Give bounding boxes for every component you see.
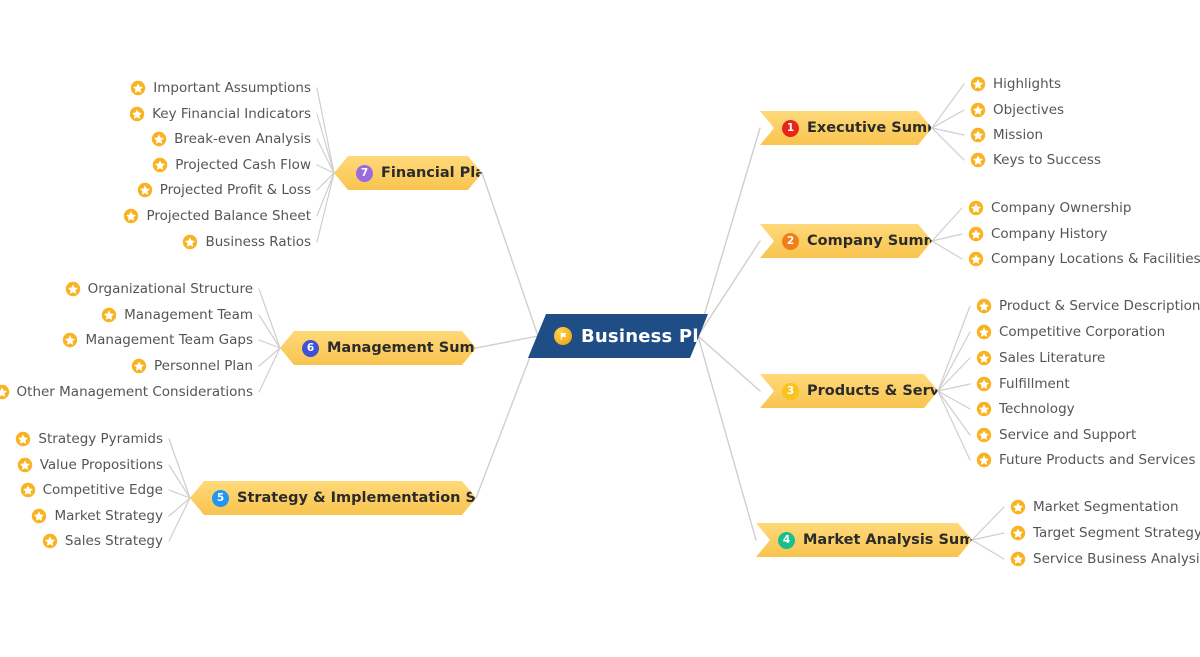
flag-icon [554, 327, 572, 345]
center-node-business-plan[interactable]: Business Plan [528, 314, 708, 358]
star-icon [976, 350, 992, 366]
leaf-node[interactable]: Keys to Success [970, 151, 1101, 169]
branch-number-badge: 5 [212, 490, 229, 507]
leaf-node-label: Market Segmentation [1033, 499, 1179, 515]
branch-node-label: Company Summary [807, 233, 965, 249]
branch-node-market-analysis-summary[interactable]: 4Market Analysis Summary [756, 523, 972, 557]
leaf-node-label: Service Business Analysis [1033, 551, 1200, 567]
star-icon [976, 452, 992, 468]
leaf-node-label: Company Ownership [991, 200, 1132, 216]
leaf-node[interactable]: Break-even Analysis [151, 130, 311, 148]
leaf-node[interactable]: Organizational Structure [65, 280, 253, 298]
leaf-node[interactable]: Value Propositions [17, 456, 163, 474]
leaf-node-label: Mission [993, 127, 1043, 143]
leaf-node-label: Keys to Success [993, 152, 1101, 168]
star-icon [42, 533, 58, 549]
leaf-node-label: Value Propositions [40, 457, 163, 473]
branch-node-management-summary[interactable]: 6Management Summary [280, 331, 476, 365]
star-icon [129, 106, 145, 122]
leaf-node-label: Key Financial Indicators [152, 106, 311, 122]
star-icon [968, 251, 984, 267]
star-icon [101, 307, 117, 323]
leaf-node-label: Objectives [993, 102, 1064, 118]
star-icon [137, 182, 153, 198]
mindmap-canvas: Business Plan1Executive SummaryHighlight… [0, 0, 1200, 657]
branch-number-badge: 2 [782, 233, 799, 250]
leaf-node-label: Personnel Plan [154, 358, 253, 374]
star-icon [976, 427, 992, 443]
leaf-node-label: Competitive Corporation [999, 324, 1165, 340]
star-icon [968, 226, 984, 242]
star-icon [970, 127, 986, 143]
leaf-node-label: Projected Balance Sheet [146, 208, 311, 224]
branch-node-label: Strategy & Implementation Summary [237, 490, 543, 506]
branch-number-badge: 1 [782, 120, 799, 137]
leaf-node[interactable]: Strategy Pyramids [15, 430, 163, 448]
star-icon [15, 431, 31, 447]
leaf-node-label: Important Assumptions [153, 80, 311, 96]
leaf-node-label: Highlights [993, 76, 1061, 92]
star-icon [152, 157, 168, 173]
leaf-node[interactable]: Target Segment Strategy [1010, 524, 1200, 542]
leaf-node-label: Product & Service Description [999, 298, 1200, 314]
center-node-label: Business Plan [581, 326, 724, 347]
leaf-node[interactable]: Business Ratios [182, 233, 311, 251]
leaf-node[interactable]: Sales Literature [976, 349, 1105, 367]
leaf-node[interactable]: Fulfillment [976, 375, 1070, 393]
star-icon [976, 376, 992, 392]
star-icon [976, 324, 992, 340]
leaf-node-label: Organizational Structure [88, 281, 253, 297]
star-icon [970, 76, 986, 92]
leaf-node[interactable]: Personnel Plan [131, 357, 253, 375]
star-icon [123, 208, 139, 224]
leaf-node[interactable]: Management Team [101, 306, 253, 324]
leaf-node[interactable]: Important Assumptions [130, 79, 311, 97]
star-icon [131, 358, 147, 374]
star-icon [182, 234, 198, 250]
branch-node-company-summary[interactable]: 2Company Summary [760, 224, 932, 258]
leaf-node[interactable]: Highlights [970, 75, 1061, 93]
leaf-node[interactable]: Service and Support [976, 426, 1136, 444]
leaf-node[interactable]: Other Management Considerations [0, 383, 253, 401]
leaf-node[interactable]: Company Locations & Facilities [968, 250, 1200, 268]
leaf-node[interactable]: Company Ownership [968, 199, 1132, 217]
star-icon [1010, 551, 1026, 567]
branch-node-products-services[interactable]: 3Products & Services [760, 374, 938, 408]
leaf-node-label: Market Strategy [54, 508, 163, 524]
branch-node-strategy-implementation-summary[interactable]: 5Strategy & Implementation Summary [190, 481, 476, 515]
star-icon [976, 401, 992, 417]
branch-node-financial-plan[interactable]: 7Financial Plan [334, 156, 482, 190]
leaf-node-label: Company Locations & Facilities [991, 251, 1200, 267]
leaf-node-label: Break-even Analysis [174, 131, 311, 147]
leaf-node[interactable]: Competitive Edge [20, 481, 163, 499]
leaf-node-label: Projected Profit & Loss [160, 182, 311, 198]
leaf-node-label: Business Ratios [205, 234, 311, 250]
leaf-node-label: Sales Strategy [65, 533, 163, 549]
leaf-node[interactable]: Service Business Analysis [1010, 550, 1200, 568]
leaf-node[interactable]: Competitive Corporation [976, 323, 1165, 341]
leaf-node-label: Management Team [124, 307, 253, 323]
branch-node-label: Executive Summary [807, 120, 969, 136]
star-icon [130, 80, 146, 96]
leaf-node[interactable]: Projected Cash Flow [152, 156, 311, 174]
branch-number-badge: 7 [356, 165, 373, 182]
branch-node-label: Financial Plan [381, 165, 495, 181]
branch-number-badge: 3 [782, 383, 799, 400]
leaf-node[interactable]: Projected Balance Sheet [123, 207, 311, 225]
star-icon [968, 200, 984, 216]
leaf-node[interactable]: Objectives [970, 101, 1064, 119]
leaf-node-label: Sales Literature [999, 350, 1105, 366]
leaf-node-label: Management Team Gaps [85, 332, 253, 348]
star-icon [1010, 499, 1026, 515]
leaf-node[interactable]: Mission [970, 126, 1043, 144]
leaf-node-label: Strategy Pyramids [38, 431, 163, 447]
star-icon [151, 131, 167, 147]
leaf-node-label: Company History [991, 226, 1108, 242]
star-icon [20, 482, 36, 498]
star-icon [0, 384, 10, 400]
leaf-node[interactable]: Company History [968, 225, 1108, 243]
leaf-node-label: Technology [999, 401, 1075, 417]
leaf-node[interactable]: Market Segmentation [1010, 498, 1179, 516]
branch-number-badge: 4 [778, 532, 795, 549]
star-icon [976, 298, 992, 314]
leaf-node-label: Competitive Edge [43, 482, 163, 498]
star-icon [65, 281, 81, 297]
leaf-node[interactable]: Sales Strategy [42, 532, 163, 550]
leaf-node[interactable]: Product & Service Description [976, 297, 1200, 315]
leaf-node-label: Fulfillment [999, 376, 1070, 392]
branch-node-label: Management Summary [327, 340, 516, 356]
leaf-node-label: Target Segment Strategy [1033, 525, 1200, 541]
branch-node-label: Market Analysis Summary [803, 532, 1016, 548]
branch-node-label: Products & Services [807, 383, 971, 399]
leaf-node-label: Future Products and Services [999, 452, 1195, 468]
leaf-node[interactable]: Projected Profit & Loss [137, 181, 311, 199]
leaf-node-label: Other Management Considerations [17, 384, 253, 400]
star-icon [17, 457, 33, 473]
leaf-node-label: Service and Support [999, 427, 1136, 443]
star-icon [1010, 525, 1026, 541]
leaf-node[interactable]: Key Financial Indicators [129, 105, 311, 123]
star-icon [970, 152, 986, 168]
branch-number-badge: 6 [302, 340, 319, 357]
leaf-node[interactable]: Future Products and Services [976, 451, 1195, 469]
star-icon [62, 332, 78, 348]
leaf-node[interactable]: Market Strategy [31, 507, 163, 525]
leaf-node-label: Projected Cash Flow [175, 157, 311, 173]
leaf-node[interactable]: Management Team Gaps [62, 331, 253, 349]
star-icon [31, 508, 47, 524]
leaf-node[interactable]: Technology [976, 400, 1075, 418]
star-icon [970, 102, 986, 118]
branch-node-executive-summary[interactable]: 1Executive Summary [760, 111, 932, 145]
